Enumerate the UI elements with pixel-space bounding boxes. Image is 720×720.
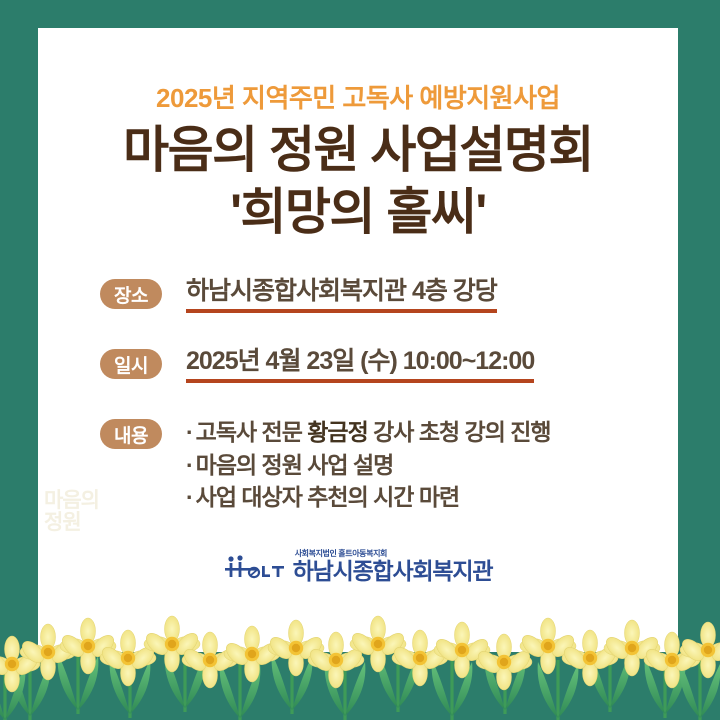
bullet-marker-icon: · — [186, 419, 193, 445]
holt-logo-icon — [224, 554, 286, 580]
label-pill-content: 내용 — [100, 419, 162, 449]
logo-text-block: 사회복지법인 홀트아동복지회 하남시종합사회복지관 — [293, 550, 493, 583]
poster-title-line2: '희망의 홀씨' — [38, 186, 678, 239]
content-panel: 마음의정원 2025년 지역주민 고독사 예방지원사업 마음의 정원 사업설명회… — [38, 28, 678, 652]
bullet-marker-icon: · — [186, 452, 193, 478]
poster-title-line1: 마음의 정원 사업설명회 — [38, 124, 678, 177]
content-emphasis-name: 황금정 — [307, 419, 367, 445]
flower-decoration — [0, 600, 720, 720]
logo-foundation-name: 사회복지법인 홀트아동복지회 — [295, 550, 387, 558]
info-row-place: 장소 하남시종합사회복지관 4층 강당 — [100, 276, 497, 313]
info-value-date: 2025년 4월 23일 (수) 10:00~12:00 — [186, 346, 534, 383]
organization-logo: 사회복지법인 홀트아동복지회 하남시종합사회복지관 — [38, 550, 678, 583]
info-value-place-wrap: 하남시종합사회복지관 4층 강당 — [186, 276, 497, 313]
poster-subtitle: 2025년 지역주민 고독사 예방지원사업 — [38, 78, 678, 115]
label-pill-date: 일시 — [100, 349, 162, 379]
bullet-marker-icon: · — [186, 484, 193, 510]
poster-root: 마음의정원 2025년 지역주민 고독사 예방지원사업 마음의 정원 사업설명회… — [0, 0, 720, 720]
info-value-place: 하남시종합사회복지관 4층 강당 — [186, 276, 497, 313]
label-pill-place: 장소 — [100, 279, 162, 309]
content-bullet-line: ·사업 대상자 추천의 시간 마련 — [186, 481, 551, 514]
info-row-date: 일시 2025년 4월 23일 (수) 10:00~12:00 — [100, 346, 534, 383]
info-value-date-wrap: 2025년 4월 23일 (수) 10:00~12:00 — [186, 346, 534, 383]
logo-center-name: 하남시종합사회복지관 — [293, 560, 493, 583]
info-row-content: 내용 ·고독사 전문 황금정 강사 초청 강의 진행·마음의 정원 사업 설명·… — [100, 416, 551, 514]
info-content-lines: ·고독사 전문 황금정 강사 초청 강의 진행·마음의 정원 사업 설명·사업 … — [186, 416, 551, 514]
content-bullet-line: ·고독사 전문 황금정 강사 초청 강의 진행 — [186, 416, 551, 449]
content-bullet-line: ·마음의 정원 사업 설명 — [186, 449, 551, 482]
